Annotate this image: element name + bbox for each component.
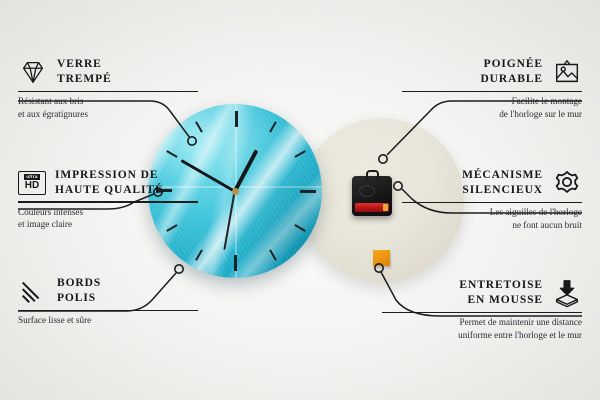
infographic-canvas: VERRE TREMPÉ Résistant aux bris et aux é… [0, 0, 600, 400]
polished-edges-icon [18, 276, 48, 306]
mechanism-hanger-loop [366, 170, 379, 180]
feature-header: ultra HD IMPRESSION DE HAUTE QUALITÉ [18, 168, 198, 197]
feature-header: ENTRETOISE EN MOUSSE [382, 278, 582, 308]
feature-header: MÉCANISME SILENCIEUX [402, 168, 582, 198]
feature-title: BORDS POLIS [57, 276, 101, 305]
feature-header: BORDS POLIS [18, 276, 198, 306]
feature-mecanisme-silencieux: MÉCANISME SILENCIEUX Les aiguilles de l'… [402, 168, 582, 231]
feature-title: POIGNÉE DURABLE [480, 57, 543, 86]
mechanism-dial [359, 185, 375, 197]
feature-rule [18, 310, 198, 311]
feature-description: Facilite le montage de l'horloge sur le … [402, 95, 582, 120]
feature-rule [402, 91, 582, 92]
gear-icon [552, 168, 582, 198]
foam-spacer-icon [552, 278, 582, 308]
feature-title: IMPRESSION DE HAUTE QUALITÉ [55, 168, 164, 197]
feature-title: MÉCANISME SILENCIEUX [462, 168, 543, 197]
feature-rule [402, 202, 582, 203]
feature-entretoise-en-mousse: ENTRETOISE EN MOUSSE Permet de maintenir… [382, 278, 582, 341]
ultra-hd-badge-icon: ultra HD [18, 171, 46, 195]
feature-description: Résistant aux bris et aux égratignures [18, 95, 198, 120]
feature-impression-haute-qualite: ultra HD IMPRESSION DE HAUTE QUALITÉ Cou… [18, 168, 198, 230]
feature-description: Permet de maintenir une distance uniform… [382, 316, 582, 341]
clock-mechanism [352, 176, 392, 216]
feature-rule [18, 201, 198, 202]
clock-center-hub [232, 188, 239, 195]
feature-header: VERRE TREMPÉ [18, 57, 198, 87]
feature-verre-trempe: VERRE TREMPÉ Résistant aux bris et aux é… [18, 57, 198, 120]
feature-poignee-durable: POIGNÉE DURABLE Facilite le montage de l… [402, 57, 582, 120]
feature-title: VERRE TREMPÉ [57, 57, 112, 86]
diamond-icon [18, 57, 48, 87]
feature-rule [18, 91, 198, 92]
feature-rule [382, 312, 582, 313]
battery [355, 203, 389, 212]
ultra-hd-label-main: HD [25, 181, 39, 191]
foam-spacer [373, 250, 390, 266]
feature-title: ENTRETOISE EN MOUSSE [459, 278, 543, 307]
wall-hanger-icon [552, 57, 582, 87]
feature-header: POIGNÉE DURABLE [402, 57, 582, 87]
feature-description: Surface lisse et sûre [18, 314, 198, 326]
feature-description: Couleurs intenses et image claire [18, 206, 198, 231]
feature-description: Les aiguilles de l'horloge ne font aucun… [402, 206, 582, 231]
feature-bords-polis: BORDS POLIS Surface lisse et sûre [18, 276, 198, 327]
